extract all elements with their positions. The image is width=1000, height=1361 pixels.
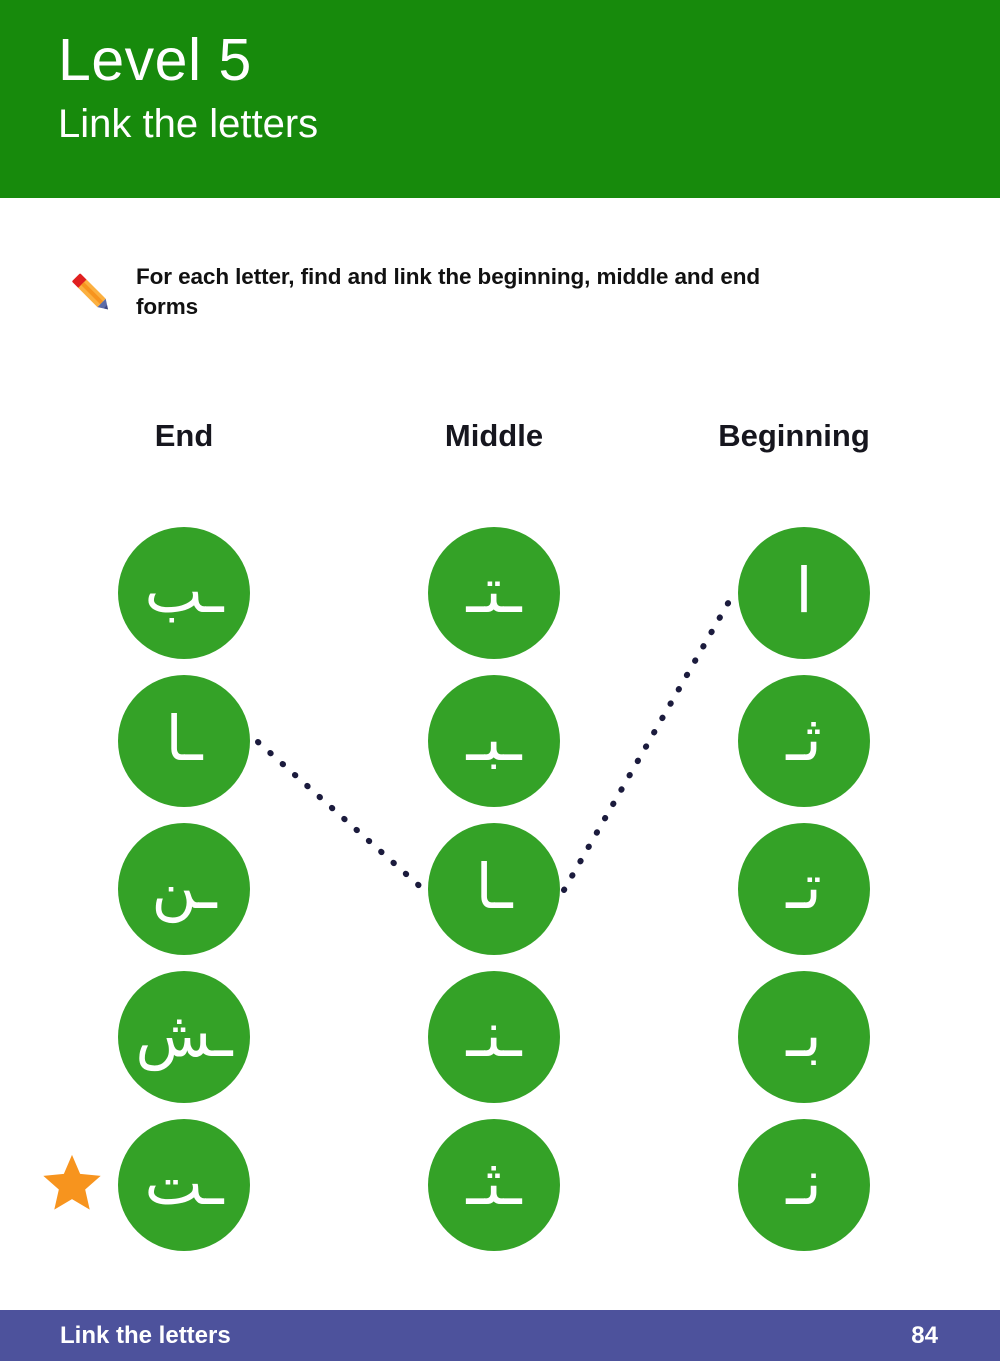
letter-circle-end-1[interactable]: ـب (118, 527, 250, 659)
letter-glyph-tha-initial: ثـ (786, 708, 821, 770)
letter-glyph-nun-medial: ـنـ (466, 1004, 521, 1066)
letter-glyph-nun-final: ـن (151, 856, 216, 918)
letter-glyph-ta-final: ـت (144, 1152, 223, 1214)
letter-glyph-tha-medial: ـثـ (466, 1152, 521, 1214)
letter-glyph-alif-final: ـا (165, 708, 202, 770)
level-title: Level 5 (58, 30, 252, 92)
letter-circle-middle-2[interactable]: ـبـ (428, 675, 560, 807)
letter-glyph-alif-medial: ـا (475, 856, 512, 918)
letter-circle-end-2[interactable]: ـا (118, 675, 250, 807)
instruction-row: For each letter, find and link the begin… (62, 262, 762, 322)
link-line-end-alif-to-middle-alif[interactable] (258, 742, 424, 890)
column-header-beginning: Beginning (684, 418, 904, 454)
letter-circle-middle-1[interactable]: ـتـ (428, 527, 560, 659)
star-icon (41, 1152, 103, 1214)
letter-circle-beginning-2[interactable]: ثـ (738, 675, 870, 807)
header-subtitle: Link the letters (58, 103, 318, 145)
footer-page-number: 84 (911, 1322, 938, 1350)
letter-circle-end-3[interactable]: ـن (118, 823, 250, 955)
column-header-middle: Middle (384, 418, 604, 454)
letter-glyph-ta-medial: ـتـ (466, 560, 521, 622)
letter-glyph-tha-final: ـش (135, 1004, 232, 1066)
letter-circle-beginning-5[interactable]: نـ (738, 1119, 870, 1251)
letter-glyph-alif-initial: ا (795, 560, 812, 622)
worksheet-page: Level 5 Link the letters For each letter… (0, 0, 1000, 1361)
letter-circle-end-4[interactable]: ـش (118, 971, 250, 1103)
letter-circle-beginning-1[interactable]: ا (738, 527, 870, 659)
page-footer: Link the letters 84 (0, 1310, 1000, 1361)
column-header-end: End (74, 418, 294, 454)
pencil-icon (62, 264, 120, 322)
letter-glyph-ba-initial: بـ (786, 1004, 821, 1066)
letter-circle-beginning-4[interactable]: بـ (738, 971, 870, 1103)
letter-circle-middle-5[interactable]: ـثـ (428, 1119, 560, 1251)
letter-glyph-ta-initial: تـ (786, 856, 821, 918)
letter-glyph-ba-medial: ـبـ (466, 708, 521, 770)
letter-circle-middle-4[interactable]: ـنـ (428, 971, 560, 1103)
instruction-text: For each letter, find and link the begin… (136, 262, 762, 322)
footer-title: Link the letters (60, 1322, 231, 1350)
letter-glyph-nun-initial: نـ (786, 1152, 821, 1214)
letter-circle-middle-3[interactable]: ـا (428, 823, 560, 955)
letter-circle-beginning-3[interactable]: تـ (738, 823, 870, 955)
letter-glyph-ba-final: ـب (144, 560, 223, 622)
link-line-middle-alif-to-beginning-alif[interactable] (564, 598, 731, 890)
letter-circle-end-5[interactable]: ـت (118, 1119, 250, 1251)
page-header: Level 5 Link the letters (0, 0, 1000, 198)
